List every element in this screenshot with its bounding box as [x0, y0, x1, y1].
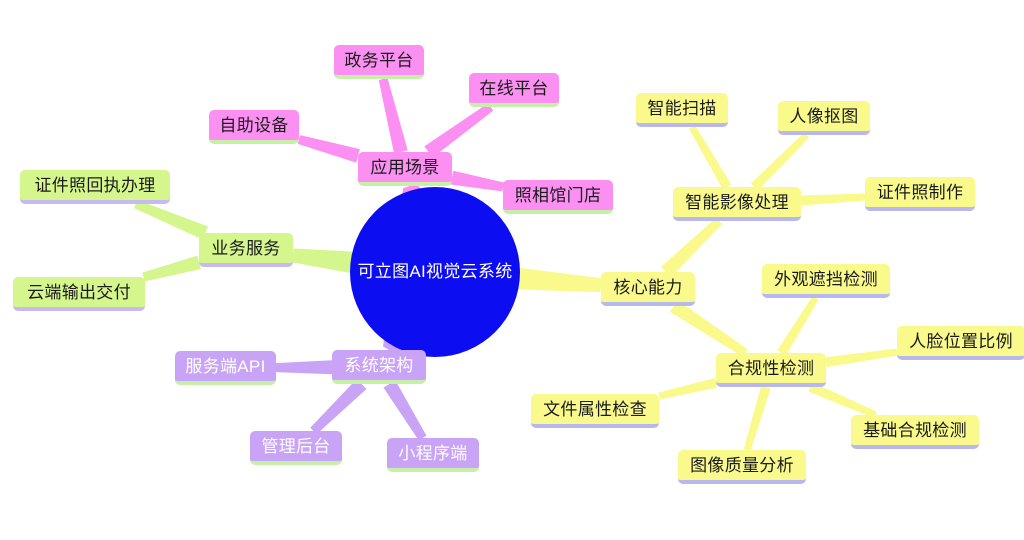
edge-compliance-detection-occlusion-detection [777, 296, 818, 355]
node-intelligent-image-processing-label: 智能影像处理 [685, 193, 789, 213]
node-online-platform[interactable]: 在线平台 [469, 73, 559, 107]
node-server-api-label: 服务端API [185, 357, 265, 377]
node-photo-studio-store-label: 照相馆门店 [515, 186, 602, 206]
node-image-quality-analysis[interactable]: 图像质量分析 [678, 450, 806, 484]
branch-node-business-services-label: 业务服务 [211, 239, 280, 259]
root-node[interactable]: 可立图AI视觉云系统 [350, 187, 520, 357]
edge-intelligent-image-processing-portrait-matting [751, 133, 810, 191]
edge-application-scenarios-government-platform [379, 78, 408, 154]
node-cloud-delivery[interactable]: 云端输出交付 [13, 277, 145, 311]
branch-node-business-services[interactable]: 业务服务 [199, 233, 293, 267]
node-id-photo-receipt[interactable]: 证件照回执办理 [20, 170, 170, 204]
node-admin-backend[interactable]: 管理后台 [250, 431, 342, 465]
edge-core-capability-compliance-detection [670, 300, 748, 357]
node-occlusion-detection[interactable]: 外观遮挡检测 [762, 264, 890, 298]
branch-node-application-scenarios[interactable]: 应用场景 [358, 152, 452, 186]
node-government-platform-label: 政务平台 [344, 51, 413, 71]
edge-intelligent-image-processing-id-photo-making [801, 194, 865, 206]
edge-system-architecture-mini-program [383, 380, 426, 440]
node-admin-backend-label: 管理后台 [261, 437, 330, 457]
edge-application-scenarios-online-platform [424, 103, 493, 157]
node-id-photo-receipt-label: 证件照回执办理 [34, 176, 155, 196]
edge-application-scenarios-photo-studio-store [451, 171, 504, 192]
edge-compliance-detection-basic-compliance-check [809, 382, 877, 418]
node-image-quality-analysis-label: 图像质量分析 [690, 456, 794, 476]
node-occlusion-detection-label: 外观遮挡检测 [774, 270, 878, 290]
edge-system-architecture-server-api [276, 360, 332, 374]
node-online-platform-label: 在线平台 [479, 79, 548, 99]
edge-intelligent-image-processing-smart-scan [689, 125, 731, 189]
node-server-api[interactable]: 服务端API [175, 351, 276, 385]
node-portrait-matting[interactable]: 人像抠图 [778, 101, 870, 135]
node-file-attribute-check-label: 文件属性检查 [543, 400, 647, 420]
node-portrait-matting-label: 人像抠图 [789, 107, 858, 127]
node-mini-program-label: 小程序端 [398, 444, 467, 464]
node-compliance-detection-label: 合规性检测 [728, 359, 815, 379]
branch-node-core-capability[interactable]: 核心能力 [601, 272, 695, 306]
node-mini-program[interactable]: 小程序端 [387, 438, 479, 472]
node-file-attribute-check[interactable]: 文件属性检查 [531, 394, 659, 428]
edge-system-architecture-admin-backend [310, 379, 366, 434]
node-government-platform[interactable]: 政务平台 [334, 45, 424, 79]
mindmap-canvas: 可立图AI视觉云系统应用场景业务服务系统架构核心能力政务平台在线平台自助设备照相… [0, 0, 1024, 540]
node-intelligent-image-processing[interactable]: 智能影像处理 [673, 187, 801, 221]
edge-core-capability-intelligent-image-processing [661, 218, 722, 277]
node-face-position-ratio-label: 人脸位置比例 [909, 332, 1013, 352]
node-cloud-delivery-label: 云端输出交付 [27, 283, 131, 303]
edge-business-services-id-photo-receipt [134, 200, 208, 240]
edge-compliance-detection-file-attribute-check [658, 378, 717, 400]
branch-node-system-architecture-label: 系统架构 [344, 356, 413, 376]
node-smart-scan[interactable]: 智能扫描 [636, 93, 728, 127]
edge-compliance-detection-face-position-ratio [825, 349, 897, 368]
edge-business-services-cloud-delivery [142, 256, 200, 282]
node-basic-compliance-check[interactable]: 基础合规检测 [851, 415, 979, 449]
node-smart-scan-label: 智能扫描 [647, 99, 716, 119]
node-self-service-device-label: 自助设备 [219, 116, 288, 136]
branch-node-system-architecture[interactable]: 系统架构 [332, 350, 426, 384]
node-photo-studio-store[interactable]: 照相馆门店 [503, 180, 613, 214]
branch-node-application-scenarios-label: 应用场景 [370, 158, 439, 178]
branch-node-core-capability-label: 核心能力 [613, 278, 682, 298]
node-face-position-ratio[interactable]: 人脸位置比例 [897, 326, 1024, 360]
edge-compliance-detection-image-quality-analysis [744, 386, 771, 451]
node-compliance-detection[interactable]: 合规性检测 [716, 353, 826, 387]
edge-application-scenarios-self-service-device [298, 135, 360, 162]
node-id-photo-making-label: 证件照制作 [877, 183, 964, 203]
node-id-photo-making[interactable]: 证件照制作 [865, 177, 975, 211]
edge-root-core-capability [515, 267, 602, 292]
root-node-label: 可立图AI视觉云系统 [357, 262, 512, 282]
node-basic-compliance-check-label: 基础合规检测 [863, 421, 967, 441]
node-self-service-device[interactable]: 自助设备 [209, 110, 299, 144]
edge-root-business-services [292, 249, 356, 274]
